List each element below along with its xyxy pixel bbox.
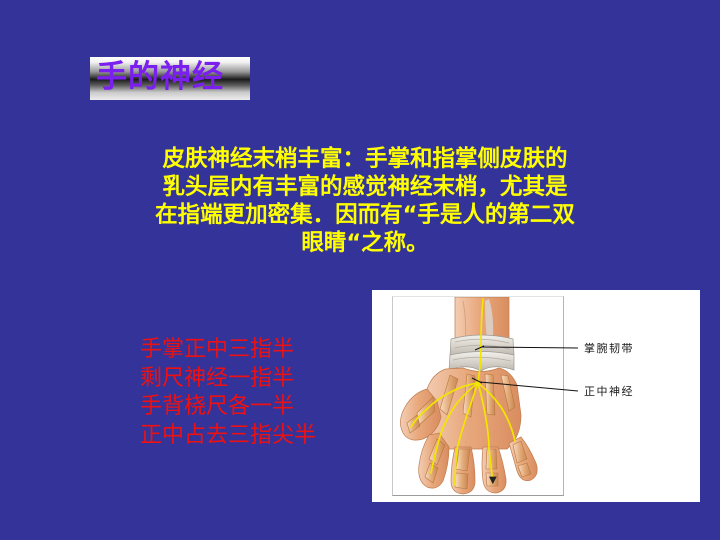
- body-paragraph: 皮肤神经末梢丰富：手掌和指掌侧皮肤的乳头层内有丰富的感觉神经末梢，尤其是在指端更…: [155, 145, 575, 257]
- verse-line-1: 手掌正中三指半: [140, 336, 380, 365]
- page-title: 手的神经: [96, 55, 296, 99]
- figure-label-palmar-carpal-ligament: 掌腕韧带: [584, 342, 634, 355]
- figure-panel: 掌腕韧带 正中神经 ▼: [372, 290, 700, 502]
- verse-line-2: 剩尺神经一指半: [140, 365, 380, 394]
- verse-line-4: 正中占去三指尖半: [140, 422, 380, 451]
- verse-line-3: 手背桡尺各一半: [140, 393, 380, 422]
- figure-bottom-marker-icon: ▼: [489, 476, 495, 485]
- figure-leader-lines: [372, 290, 700, 502]
- verse-block: 手掌正中三指半 剩尺神经一指半 手背桡尺各一半 正中占去三指尖半: [140, 336, 380, 450]
- slide-canvas: 手的神经 皮肤神经末梢丰富：手掌和指掌侧皮肤的乳头层内有丰富的感觉神经末梢，尤其…: [0, 0, 720, 540]
- figure-label-median-nerve: 正中神经: [584, 385, 634, 398]
